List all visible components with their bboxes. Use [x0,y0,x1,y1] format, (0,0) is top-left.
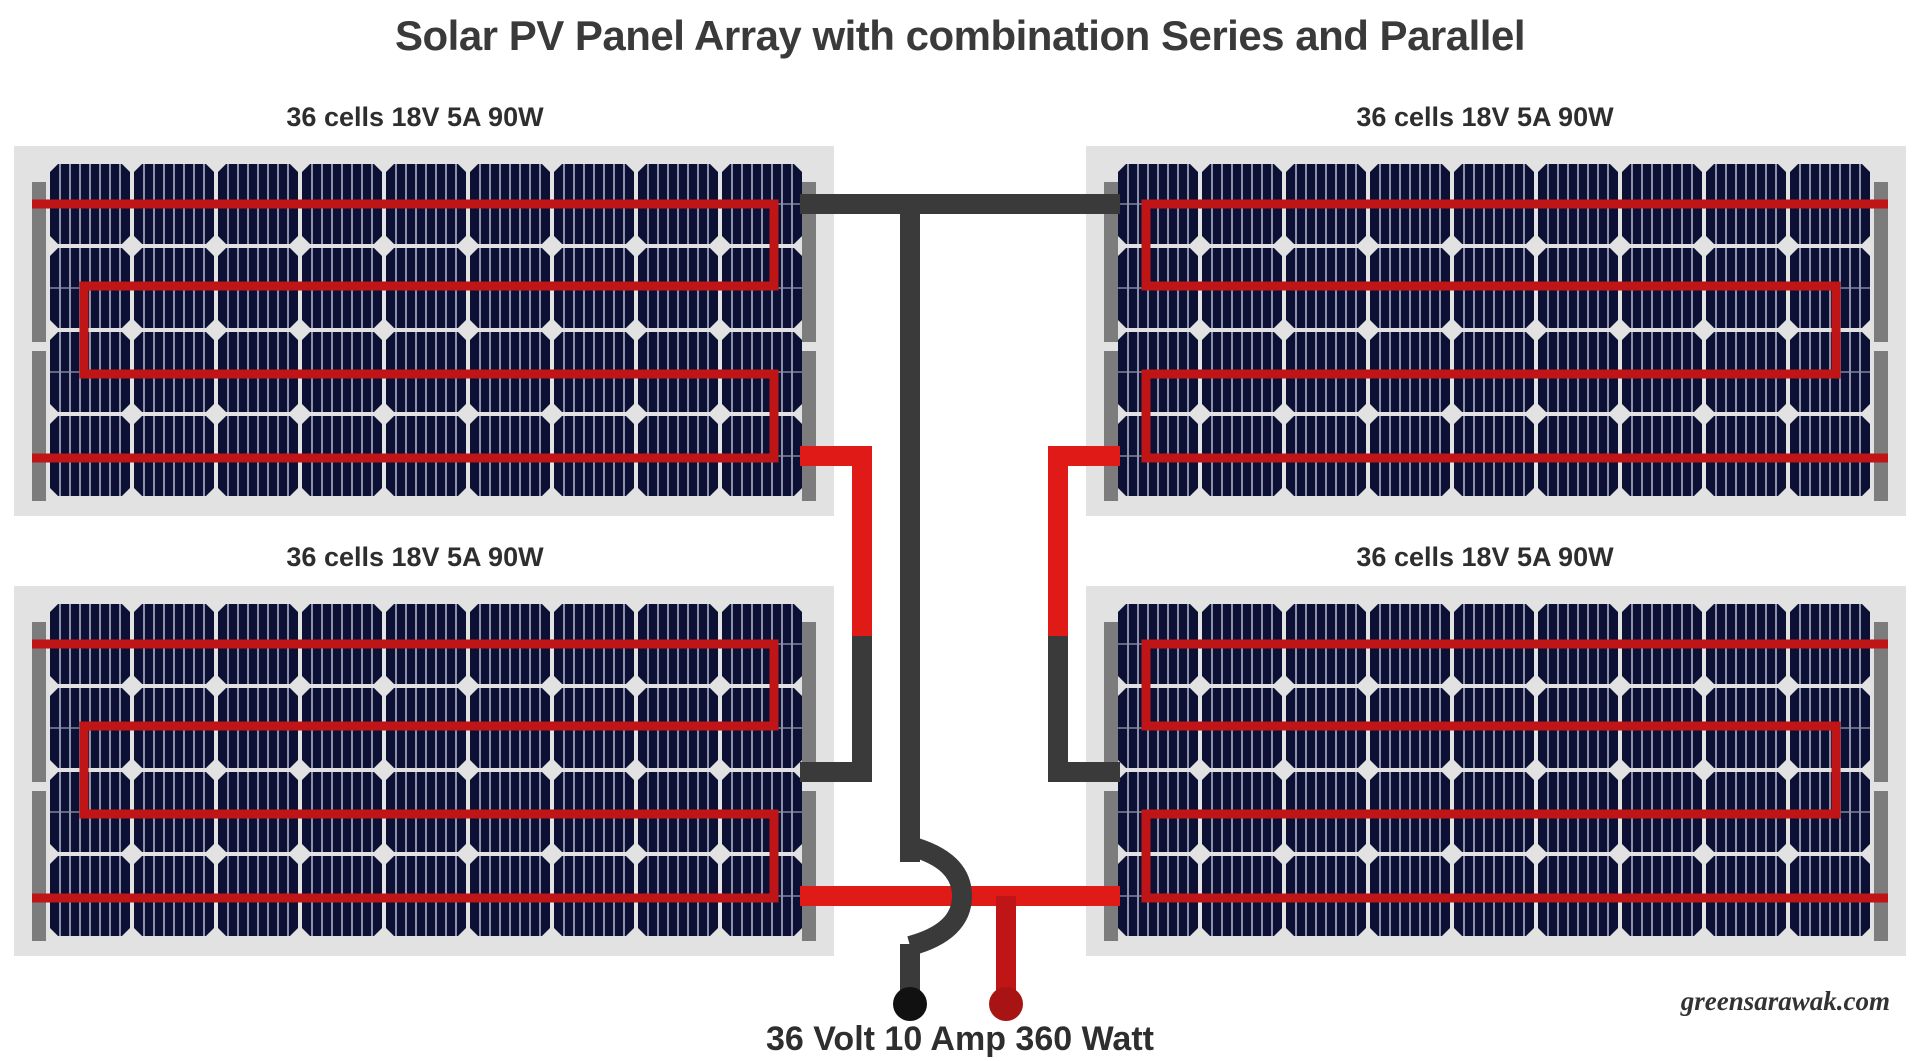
panel-label-top-left: 36 cells 18V 5A 90W [286,102,544,132]
panel-label-bottom-right: 36 cells 18V 5A 90W [1356,542,1614,572]
panel-top-left[interactable] [14,146,834,516]
array-output-label: 36 Volt 10 Amp 360 Watt [766,1020,1154,1058]
panel-label-top-right: 36 cells 18V 5A 90W [1356,102,1614,132]
watermark: greensarawak.com [1680,986,1890,1016]
panel-top-right[interactable] [1086,146,1906,516]
solar-array-diagram: Solar PV Panel Array with combination Se… [0,0,1920,1061]
positive-terminal[interactable] [989,987,1023,1021]
diagram-canvas: Solar PV Panel Array with combination Se… [0,0,1920,1061]
wiring-harness [800,204,1120,1021]
negative-terminal[interactable] [893,987,927,1021]
page-title: Solar PV Panel Array with combination Se… [395,12,1525,59]
panel-label-bottom-left: 36 cells 18V 5A 90W [286,542,544,572]
panel-bottom-left[interactable] [14,586,834,956]
panel-bottom-right[interactable] [1086,586,1906,956]
